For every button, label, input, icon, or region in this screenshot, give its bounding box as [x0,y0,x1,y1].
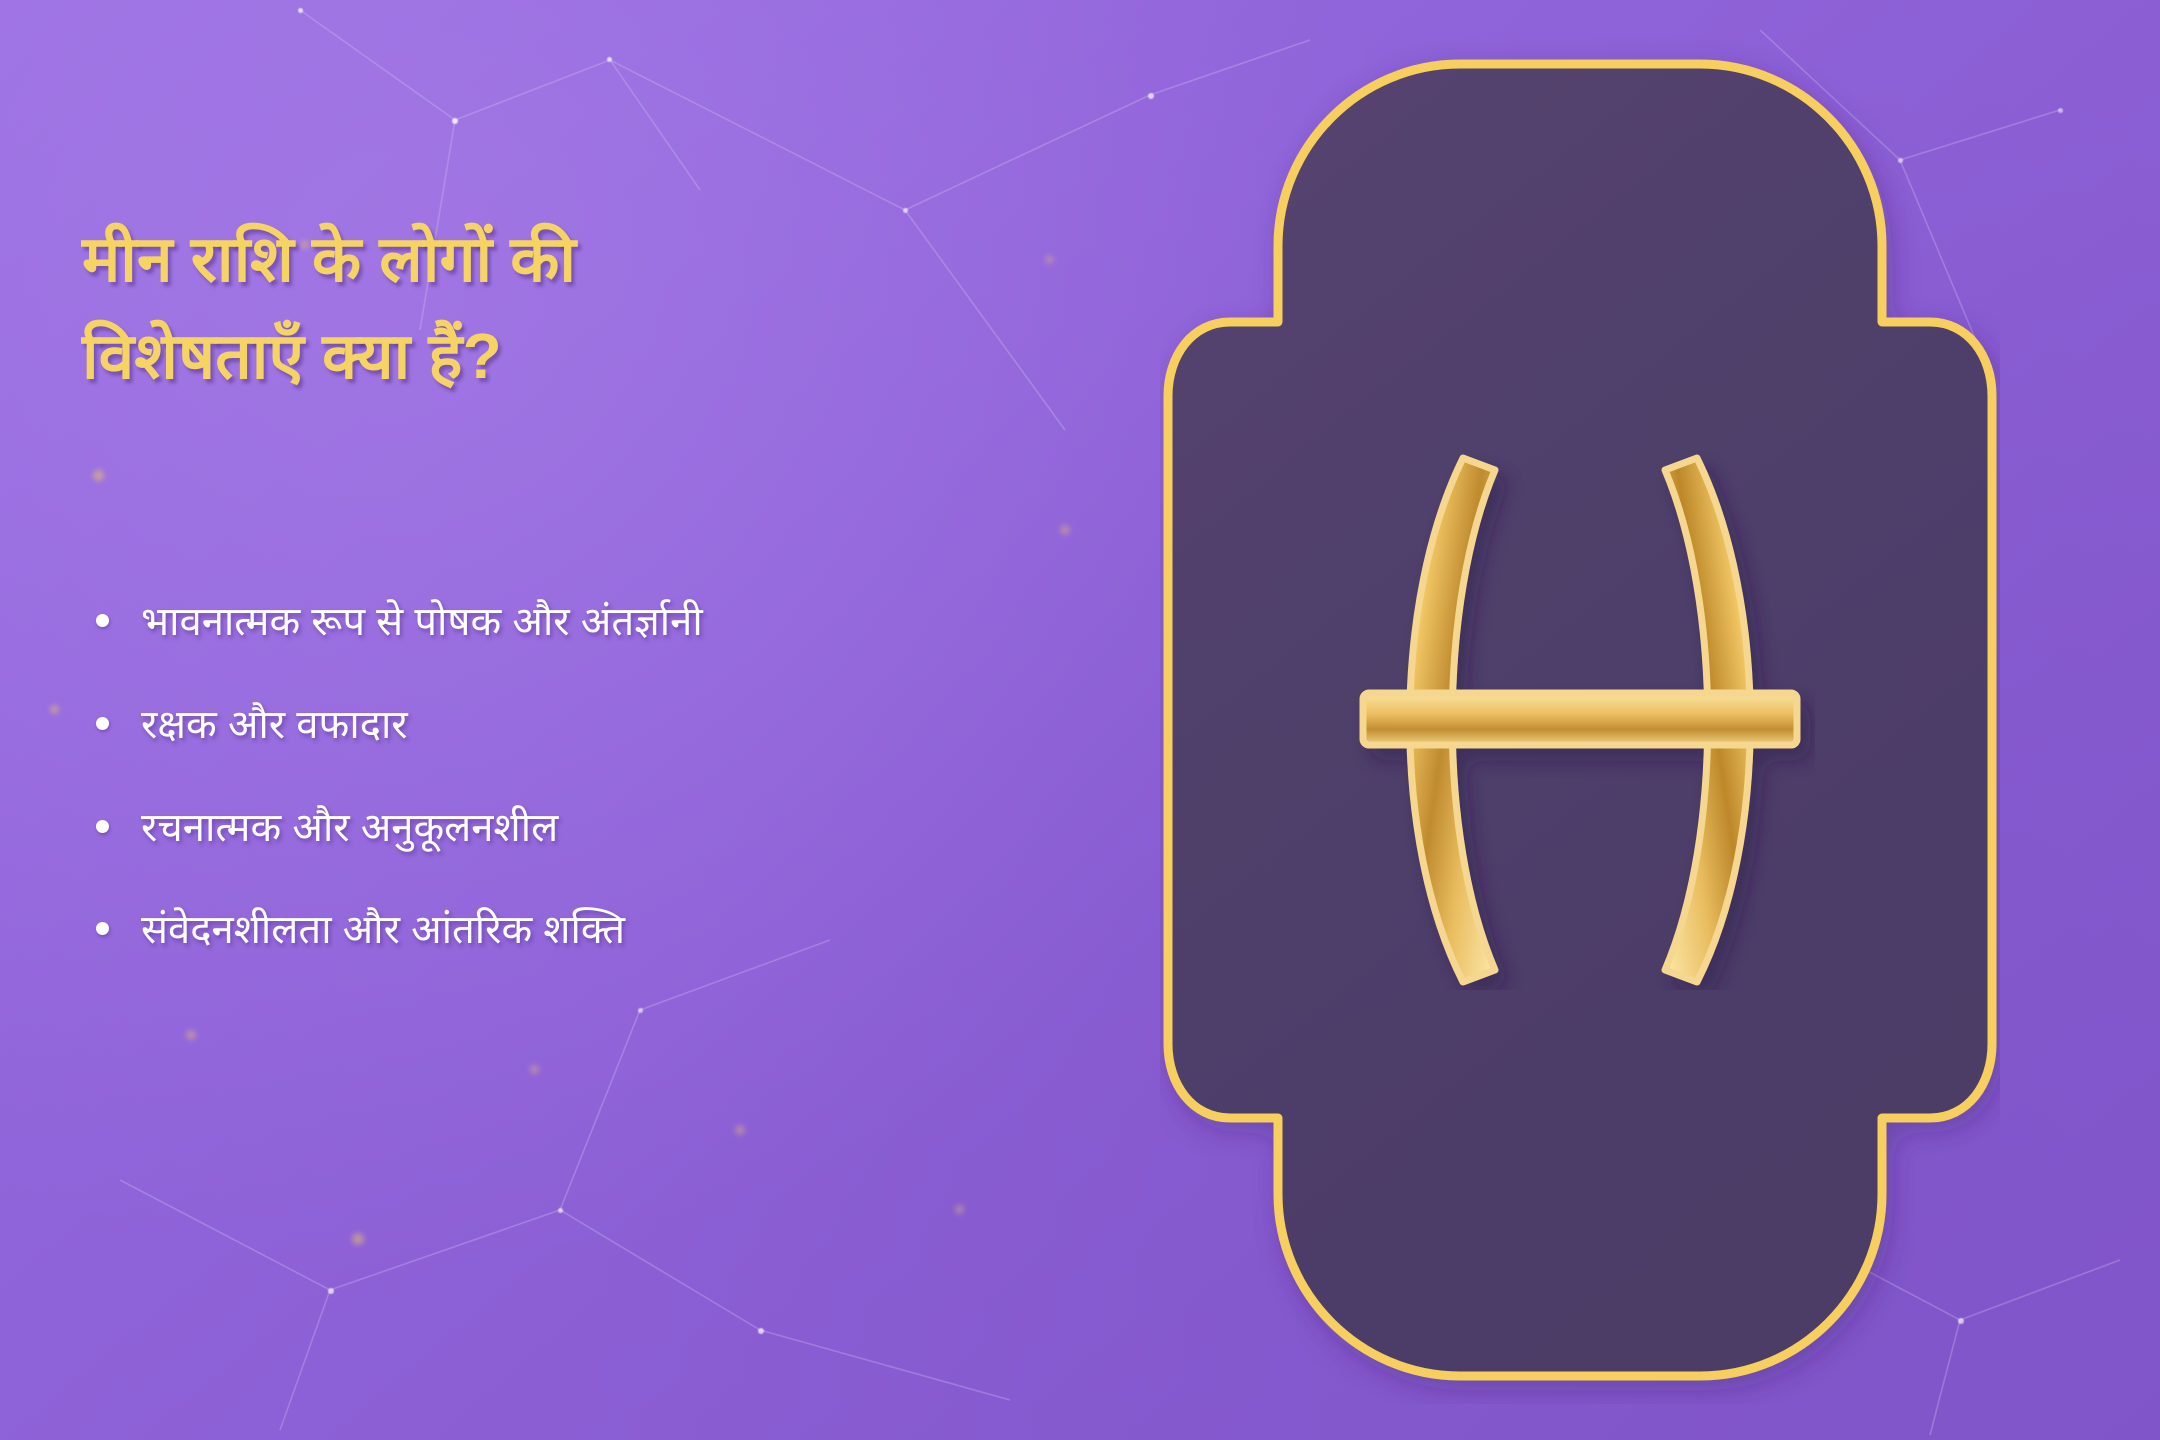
infographic-canvas: मीन राशि के लोगों की विशेषताएँ क्या हैं?… [0,0,2160,1440]
content-column: मीन राशि के लोगों की विशेषताएँ क्या हैं?… [0,0,1130,1440]
list-item: भावनात्मक रूप से पोषक और अंतर्ज्ञानी [96,590,1096,655]
page-title-line-2: विशेषताएँ क्या हैं? [82,308,1042,405]
bullet-dot-icon [96,820,109,833]
page-title: मीन राशि के लोगों की विशेषताएँ क्या हैं? [82,211,1042,406]
trait-text: रक्षक और वफादार [141,693,1096,758]
bullet-dot-icon [96,717,109,730]
zodiac-card [1160,36,2000,1404]
pisces-zodiac-symbol-icon [1345,450,1815,990]
bullet-dot-icon [96,922,109,935]
page-title-line-1: मीन राशि के लोगों की [82,223,576,295]
trait-text: भावनात्मक रूप से पोषक और अंतर्ज्ञानी [141,590,1096,655]
trait-text: संवेदनशीलता और आंतरिक शक्ति [141,898,1096,963]
list-item: रक्षक और वफादार [96,693,1096,758]
bullet-dot-icon [96,614,109,627]
traits-list: भावनात्मक रूप से पोषक और अंतर्ज्ञानी रक्… [96,590,1096,1001]
list-item: संवेदनशीलता और आंतरिक शक्ति [96,898,1096,963]
list-item: रचनात्मक और अनुकूलनशील [96,796,1096,861]
trait-text: रचनात्मक और अनुकूलनशील [141,796,1096,861]
